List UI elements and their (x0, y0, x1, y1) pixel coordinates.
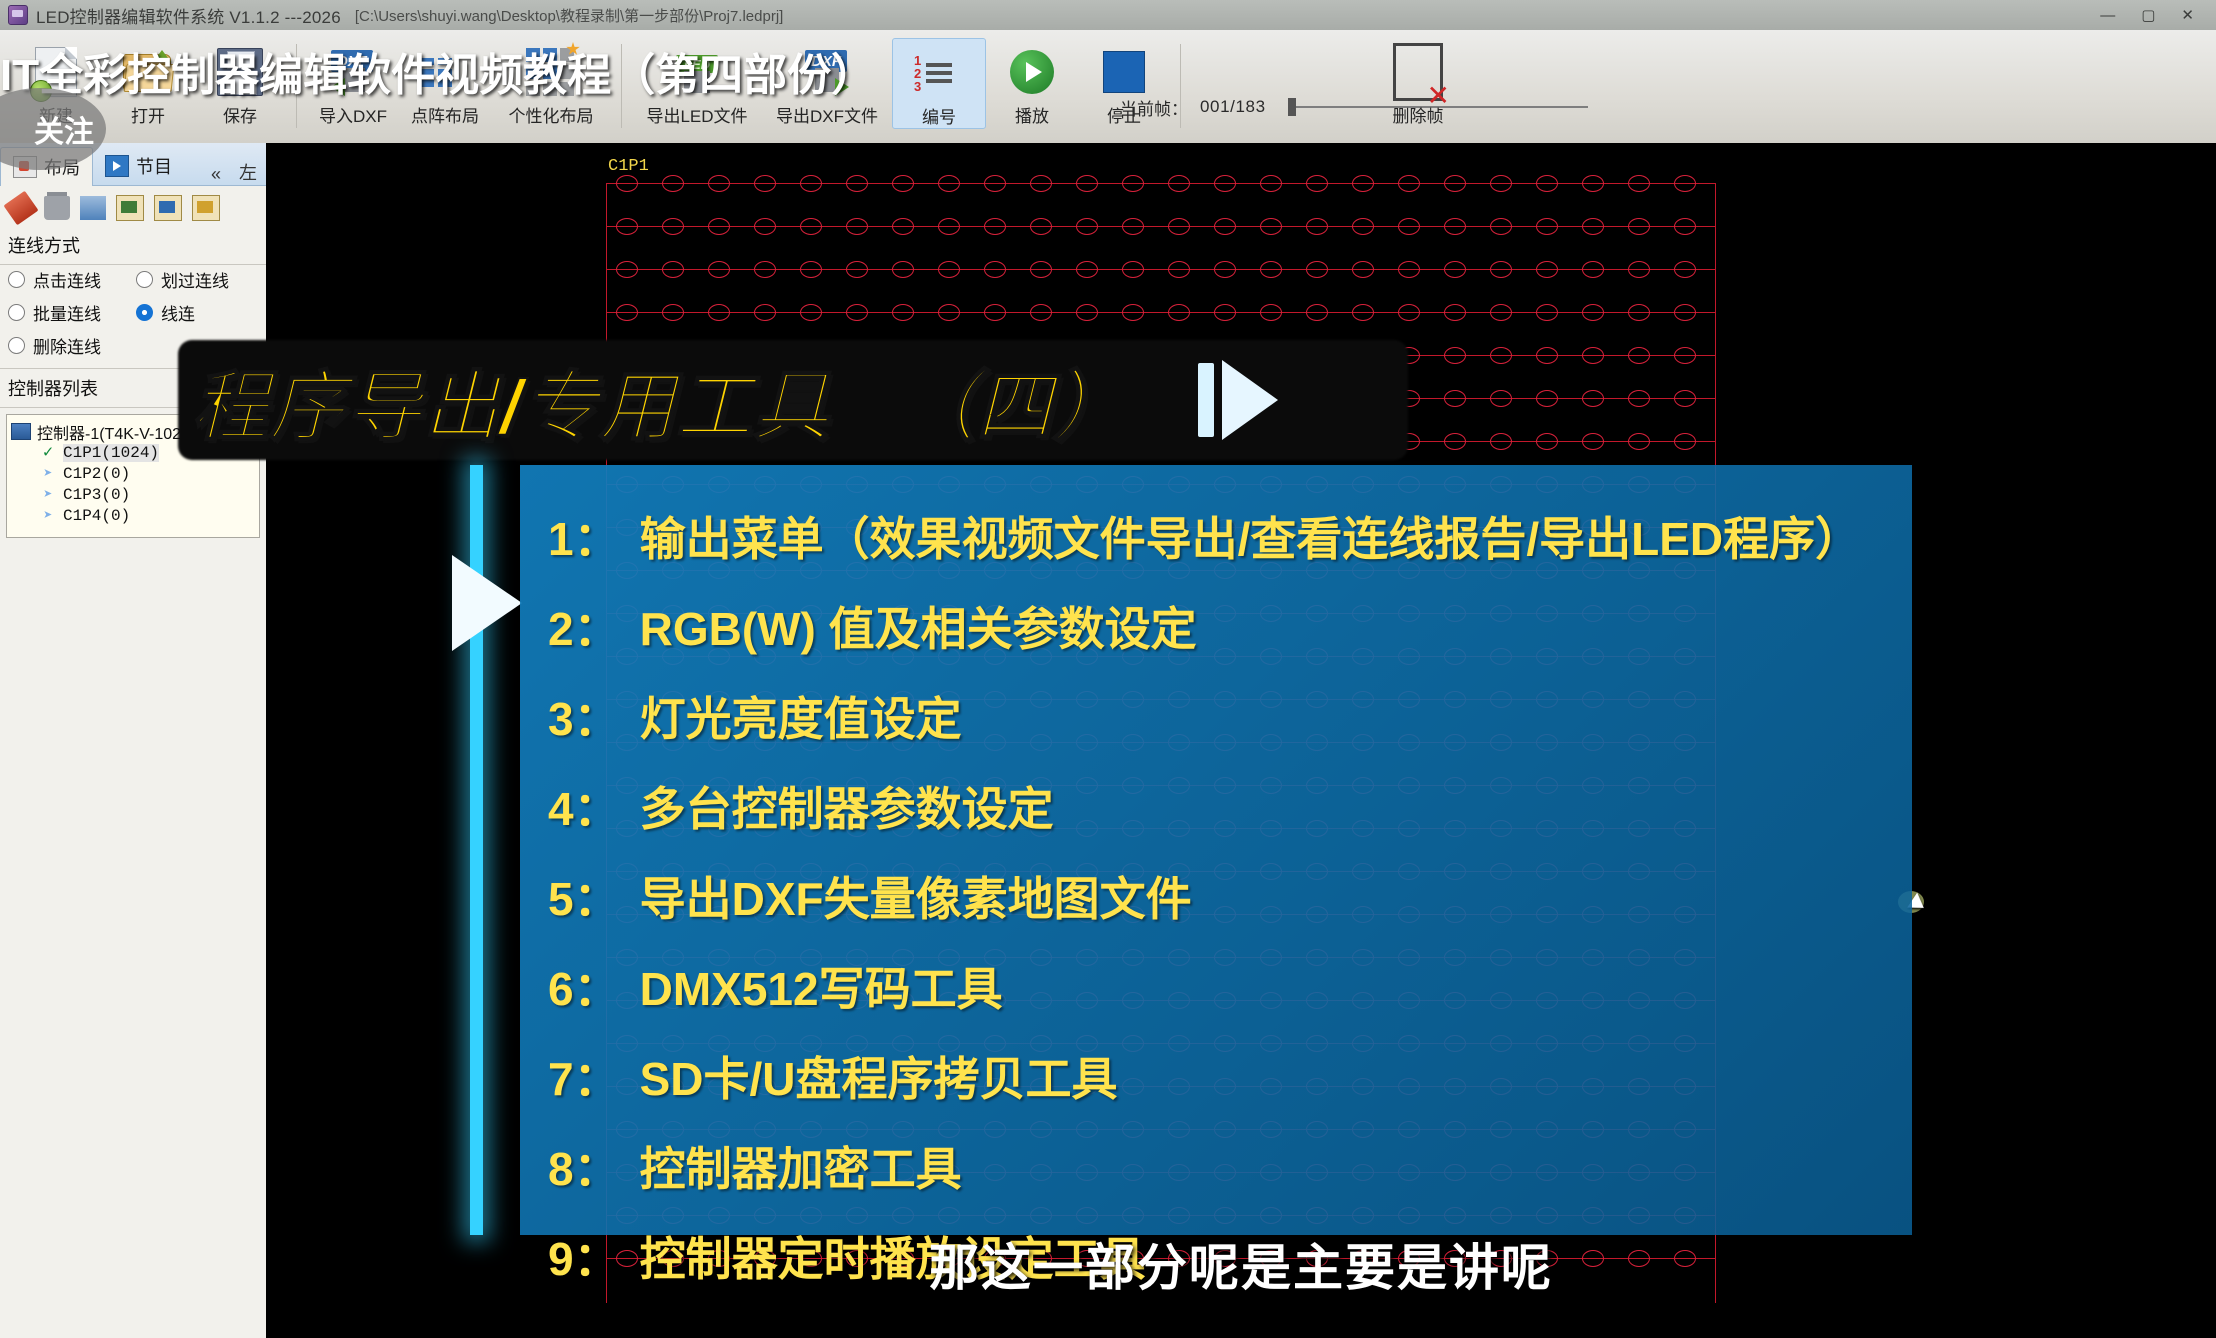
pixel-node[interactable] (1490, 175, 1512, 192)
pixel-node[interactable] (662, 304, 684, 321)
delete-frame-button[interactable]: ✕ 删除帧 (1372, 38, 1464, 127)
pixel-node[interactable] (1674, 261, 1696, 278)
pixel-node[interactable] (1076, 175, 1098, 192)
tree-item-c1p2[interactable]: ➤ C1P2(0) (11, 463, 255, 484)
pixel-node[interactable] (1628, 390, 1650, 407)
import-dxf-label: 导入DXF (319, 102, 387, 127)
current-frame-label: 当前帧： (1120, 95, 1188, 120)
overlay-item-text: 多台控制器参数设定 (640, 773, 1054, 839)
window-controls: — ▢ ✕ (2100, 0, 2212, 30)
matrix-layout-button[interactable]: 点阵布局 (399, 38, 491, 127)
overlay-title-main: 程序导出/专用工具 (192, 345, 830, 455)
pixel-node[interactable] (1628, 175, 1650, 192)
pixel-node[interactable] (1030, 175, 1052, 192)
arrow-icon: ➤ (39, 506, 57, 525)
import-dxf-button[interactable]: DXF 导入DXF (307, 38, 399, 127)
pixel-node[interactable] (1674, 175, 1696, 192)
play-label: 播放 (1015, 102, 1049, 127)
pixel-node[interactable] (1398, 218, 1420, 235)
overlay-item-number: 5： (548, 863, 620, 929)
pixel-node[interactable] (1582, 347, 1604, 364)
pixel-node[interactable] (1260, 175, 1282, 192)
pixel-node[interactable] (1076, 218, 1098, 235)
pixel-node[interactable] (892, 218, 914, 235)
pixel-node[interactable] (1536, 261, 1558, 278)
export-led-icon: LED (674, 44, 720, 100)
current-frame-value: 001/183 (1200, 97, 1266, 117)
pixel-node[interactable] (1444, 261, 1466, 278)
radio-delete-connect[interactable]: 删除连线 (8, 333, 136, 358)
pixel-node[interactable] (662, 175, 684, 192)
export-dxf-icon: DXF (803, 44, 851, 100)
pixel-node[interactable] (1260, 218, 1282, 235)
pixel-node[interactable] (1122, 218, 1144, 235)
pixel-node[interactable] (984, 175, 1006, 192)
pixel-node[interactable] (1582, 218, 1604, 235)
overlay-item: 5：导出DXF失量像素地图文件 (548, 863, 1912, 929)
overlay-item-number: 8： (548, 1133, 620, 1199)
save-button[interactable]: 保存 (194, 38, 286, 127)
pixel-node[interactable] (1628, 261, 1650, 278)
overlay-item: 3：灯光亮度值设定 (548, 683, 1912, 749)
pixel-node[interactable] (754, 175, 776, 192)
program-tab-icon (105, 155, 129, 177)
overlay-item-number: 4： (548, 773, 620, 839)
export-led-button[interactable]: LED 导出LED文件 (632, 38, 762, 127)
tab-program[interactable]: 节目 (93, 147, 184, 185)
arrow-icon: ➤ (39, 485, 57, 504)
pixel-node[interactable] (1582, 261, 1604, 278)
pause-play-glyph-icon (1198, 360, 1278, 440)
tree-item-c1p1-label: C1P1(1024) (63, 444, 159, 462)
pixel-node[interactable] (1352, 304, 1374, 321)
pixel-node[interactable] (662, 261, 684, 278)
save-disk-icon (217, 44, 263, 100)
pixel-node[interactable] (616, 218, 638, 235)
pixel-node[interactable] (616, 261, 638, 278)
pixel-node[interactable] (1122, 261, 1144, 278)
pixel-node[interactable] (1030, 218, 1052, 235)
pixel-node[interactable] (1306, 175, 1328, 192)
edit-image-icon[interactable] (154, 195, 182, 221)
grid-pen-icon[interactable] (80, 196, 106, 220)
project-path: [C:\Users\shuyi.wang\Desktop\教程录制\第一步部份\… (355, 5, 783, 26)
pixel-node[interactable] (1536, 218, 1558, 235)
arrow-icon: ➤ (39, 464, 57, 483)
panel-mini-toolbar (0, 186, 266, 226)
pixel-node[interactable] (1306, 218, 1328, 235)
export-dxf-label: 导出DXF文件 (776, 102, 878, 127)
pixel-node[interactable] (754, 218, 776, 235)
radio-click-connect[interactable]: 点击连线 (8, 267, 136, 292)
pixel-node[interactable] (938, 218, 960, 235)
pixel-node[interactable] (616, 175, 638, 192)
pixel-node[interactable] (800, 175, 822, 192)
overlay-item-text: DMX512写码工具 (640, 953, 1003, 1019)
pixel-node[interactable] (754, 261, 776, 278)
pixel-node[interactable] (1444, 304, 1466, 321)
pixel-node[interactable] (1674, 433, 1696, 450)
toolbar-separator (296, 44, 297, 128)
pixel-node[interactable] (892, 261, 914, 278)
slide-arrow-icon (452, 555, 522, 651)
radio-batch-connect-label: 批量连线 (33, 300, 101, 325)
app-icon (8, 5, 28, 25)
pixel-node[interactable] (1628, 218, 1650, 235)
pixel-node[interactable] (1306, 261, 1328, 278)
pixel-node[interactable] (984, 218, 1006, 235)
lock-image-icon[interactable] (192, 195, 220, 221)
pixel-node[interactable] (1352, 218, 1374, 235)
pixel-node[interactable] (1352, 175, 1374, 192)
pixel-row (606, 183, 1716, 184)
pixel-node[interactable] (1490, 304, 1512, 321)
left-panel: 布局 节目 « 左 连线方式 点击连线 (0, 143, 267, 1338)
radio-line-connect-label: 线连 (161, 300, 195, 325)
overlay-item-number: 2： (548, 593, 620, 659)
video-subtitle: 那这一部分呢是主要是讲呢 (266, 1228, 2216, 1300)
tree-item-c1p3-label: C1P3(0) (63, 486, 130, 504)
toolbar-group-frame: ✕ 删除帧 (1372, 38, 1464, 134)
matrix-layout-label: 点阵布局 (411, 102, 479, 127)
pixel-node[interactable] (1490, 218, 1512, 235)
play-button[interactable]: 播放 (986, 38, 1078, 127)
pixel-node[interactable] (1214, 218, 1236, 235)
tree-item-c1p3[interactable]: ➤ C1P3(0) (11, 484, 255, 505)
trash-icon[interactable] (44, 196, 70, 220)
custom-layout-label: 个性化布局 (509, 102, 594, 127)
export-dxf-button[interactable]: DXF 导出DXF文件 (762, 38, 892, 127)
pixel-node[interactable] (1030, 261, 1052, 278)
overlay-item-text: 灯光亮度值设定 (640, 683, 962, 749)
overlay-item-number: 3： (548, 683, 620, 749)
pixel-node[interactable] (1260, 261, 1282, 278)
pixel-node[interactable] (1628, 347, 1650, 364)
pixel-node[interactable] (1168, 304, 1190, 321)
pixel-node[interactable] (1030, 304, 1052, 321)
tree-item-c1p4[interactable]: ➤ C1P4(0) (11, 505, 255, 526)
window-title: LED控制器编辑软件系统 V1.1.2 ---2026 (36, 3, 341, 28)
overlay-item-text: 输出菜单（效果视频文件导出/查看连线报告/导出LED程序） (640, 503, 1862, 569)
pixel-node[interactable] (1490, 261, 1512, 278)
pixel-node[interactable] (1582, 433, 1604, 450)
pixel-node[interactable] (708, 175, 730, 192)
pixel-node[interactable] (708, 304, 730, 321)
frame-controls: 当前帧： 001/183 (1120, 72, 1588, 142)
pixel-node[interactable] (708, 218, 730, 235)
pixel-node[interactable] (1536, 175, 1558, 192)
pixel-node[interactable] (1582, 304, 1604, 321)
pixel-node[interactable] (1260, 304, 1282, 321)
connect-section-title: 连线方式 (0, 226, 266, 260)
pixel-node[interactable] (1214, 304, 1236, 321)
pixel-node[interactable] (1122, 175, 1144, 192)
pixel-node[interactable] (938, 175, 960, 192)
pixel-node[interactable] (1674, 218, 1696, 235)
pixel-node[interactable] (846, 304, 868, 321)
canvas-group-label: C1P1 (608, 157, 649, 176)
radio-batch-connect[interactable]: 批量连线 (8, 300, 136, 325)
pixel-node[interactable] (1168, 261, 1190, 278)
pixel-node[interactable] (1214, 261, 1236, 278)
radio-line-connect[interactable]: 线连 (136, 300, 258, 325)
pixel-node[interactable] (984, 304, 1006, 321)
toolbar-separator-2 (621, 44, 622, 128)
pixel-node[interactable] (662, 218, 684, 235)
pixel-node[interactable] (1674, 347, 1696, 364)
pixel-node[interactable] (938, 261, 960, 278)
overlay-title-part: （四） (900, 345, 1128, 455)
pixel-node[interactable] (846, 218, 868, 235)
radio-delete-connect-label: 删除连线 (33, 333, 101, 358)
frame-slider-thumb[interactable] (1288, 98, 1296, 116)
export-led-label: 导出LED文件 (646, 102, 747, 127)
radio-dot (8, 337, 25, 354)
collapse-panel-button[interactable]: « (202, 164, 230, 185)
pixel-row (606, 312, 1716, 313)
close-button[interactable]: ✕ (2181, 6, 2194, 24)
pixel-node[interactable] (1674, 304, 1696, 321)
tree-item-c1p4-label: C1P4(0) (63, 507, 130, 525)
radio-swipe-connect[interactable]: 划过连线 (136, 267, 258, 292)
delete-frame-icon: ✕ (1393, 44, 1443, 100)
overlay-item-number: 1： (548, 503, 620, 569)
pixel-node[interactable] (800, 261, 822, 278)
overlay-item: 1：输出菜单（效果视频文件导出/查看连线报告/导出LED程序） (548, 503, 1912, 569)
pixel-node[interactable] (1076, 304, 1098, 321)
radio-dot (8, 304, 25, 321)
open-button-label: 打开 (131, 102, 165, 127)
overlay-item: 2：RGB(W) 值及相关参数设定 (548, 593, 1912, 659)
application-window: LED控制器编辑软件系统 V1.1.2 ---2026 [C:\Users\sh… (0, 0, 2216, 1338)
overlay-item-text: 导出DXF失量像素地图文件 (640, 863, 1192, 929)
overlay-item-text: 控制器加密工具 (640, 1133, 962, 1199)
radio-click-connect-label: 点击连线 (33, 267, 101, 292)
pixel-node[interactable] (708, 261, 730, 278)
numbering-button[interactable]: 123 编号 (892, 38, 986, 129)
open-folder-icon (123, 44, 173, 100)
tree-item-controller-label: 控制器-1(T4K-V-1024[ (37, 420, 194, 444)
pixel-node[interactable] (1582, 390, 1604, 407)
pixel-node[interactable] (1214, 175, 1236, 192)
save-button-label: 保存 (223, 102, 257, 127)
radio-dot (136, 271, 153, 288)
radio-dot-selected (136, 304, 153, 321)
tree-item-c1p2-label: C1P2(0) (63, 465, 130, 483)
toolbar-group-file: 新建 打开 保存 DXF 导入DXF (10, 38, 1191, 134)
radio-dot (8, 271, 25, 288)
pixel-node[interactable] (1076, 261, 1098, 278)
pixel-node[interactable] (1444, 218, 1466, 235)
dock-left-button[interactable]: 左 (230, 159, 266, 185)
overlay-slide: 1：输出菜单（效果视频文件导出/查看连线报告/导出LED程序）2：RGB(W) … (520, 465, 1912, 1235)
pixel-node[interactable] (1398, 175, 1420, 192)
pixel-node[interactable] (1352, 261, 1374, 278)
pixel-node[interactable] (1306, 304, 1328, 321)
radio-swipe-connect-label: 划过连线 (161, 267, 229, 292)
pixel-row (606, 269, 1716, 270)
overlay-item-list: 1：输出菜单（效果视频文件导出/查看连线报告/导出LED程序）2：RGB(W) … (520, 465, 1912, 1289)
overlay-item: 8：控制器加密工具 (548, 1133, 1912, 1199)
pixel-node[interactable] (1122, 304, 1144, 321)
maximize-button[interactable]: ▢ (2141, 6, 2155, 24)
insert-image-icon[interactable] (116, 195, 144, 221)
pixel-node[interactable] (800, 218, 822, 235)
pixel-node[interactable] (846, 175, 868, 192)
overlay-item-text: SD卡/U盘程序拷贝工具 (640, 1043, 1118, 1109)
eraser-icon[interactable] (3, 191, 38, 226)
main-toolbar: 新建 打开 保存 DXF 导入DXF (0, 30, 2216, 143)
overlay-item: 7：SD卡/U盘程序拷贝工具 (548, 1043, 1912, 1109)
pixel-node[interactable] (1444, 175, 1466, 192)
pixel-node[interactable] (1398, 304, 1420, 321)
check-icon: ✓ (39, 442, 57, 463)
pixel-node[interactable] (1582, 175, 1604, 192)
pixel-node[interactable] (616, 304, 638, 321)
controller-icon (11, 423, 31, 440)
overlay-item-number: 6： (548, 953, 620, 1019)
open-button[interactable]: 打开 (102, 38, 194, 127)
pixel-node[interactable] (1168, 175, 1190, 192)
overlay-title: 程序导出/专用工具 （四） (178, 340, 1568, 460)
pixel-node[interactable] (1398, 261, 1420, 278)
pixel-node[interactable] (984, 261, 1006, 278)
pixel-node[interactable] (1628, 433, 1650, 450)
overlay-item-text: RGB(W) 值及相关参数设定 (640, 593, 1197, 659)
title-bar: LED控制器编辑软件系统 V1.1.2 ---2026 [C:\Users\sh… (0, 0, 2216, 30)
overlay-item-number: 7： (548, 1043, 620, 1109)
pixel-node[interactable] (1168, 218, 1190, 235)
overlay-item: 6：DMX512写码工具 (548, 953, 1912, 1019)
custom-layout-button[interactable]: 个性化布局 (491, 38, 611, 127)
matrix-layout-icon (420, 44, 470, 100)
pixel-node[interactable] (1628, 304, 1650, 321)
pixel-node[interactable] (846, 261, 868, 278)
play-icon (1010, 44, 1054, 100)
tab-program-label: 节目 (136, 153, 172, 179)
pixel-node[interactable] (892, 175, 914, 192)
pixel-node[interactable] (1536, 304, 1558, 321)
minimize-button[interactable]: — (2100, 7, 2115, 24)
pixel-node[interactable] (1674, 390, 1696, 407)
pixel-node[interactable] (800, 304, 822, 321)
numbering-icon: 123 (914, 45, 964, 101)
overlay-item: 4：多台控制器参数设定 (548, 773, 1912, 839)
custom-layout-icon (526, 44, 576, 100)
pixel-row (606, 226, 1716, 227)
import-dxf-icon: DXF (329, 44, 377, 100)
pixel-node[interactable] (754, 304, 776, 321)
numbering-label: 编号 (922, 103, 956, 128)
pixel-node[interactable] (892, 304, 914, 321)
pixel-node[interactable] (938, 304, 960, 321)
